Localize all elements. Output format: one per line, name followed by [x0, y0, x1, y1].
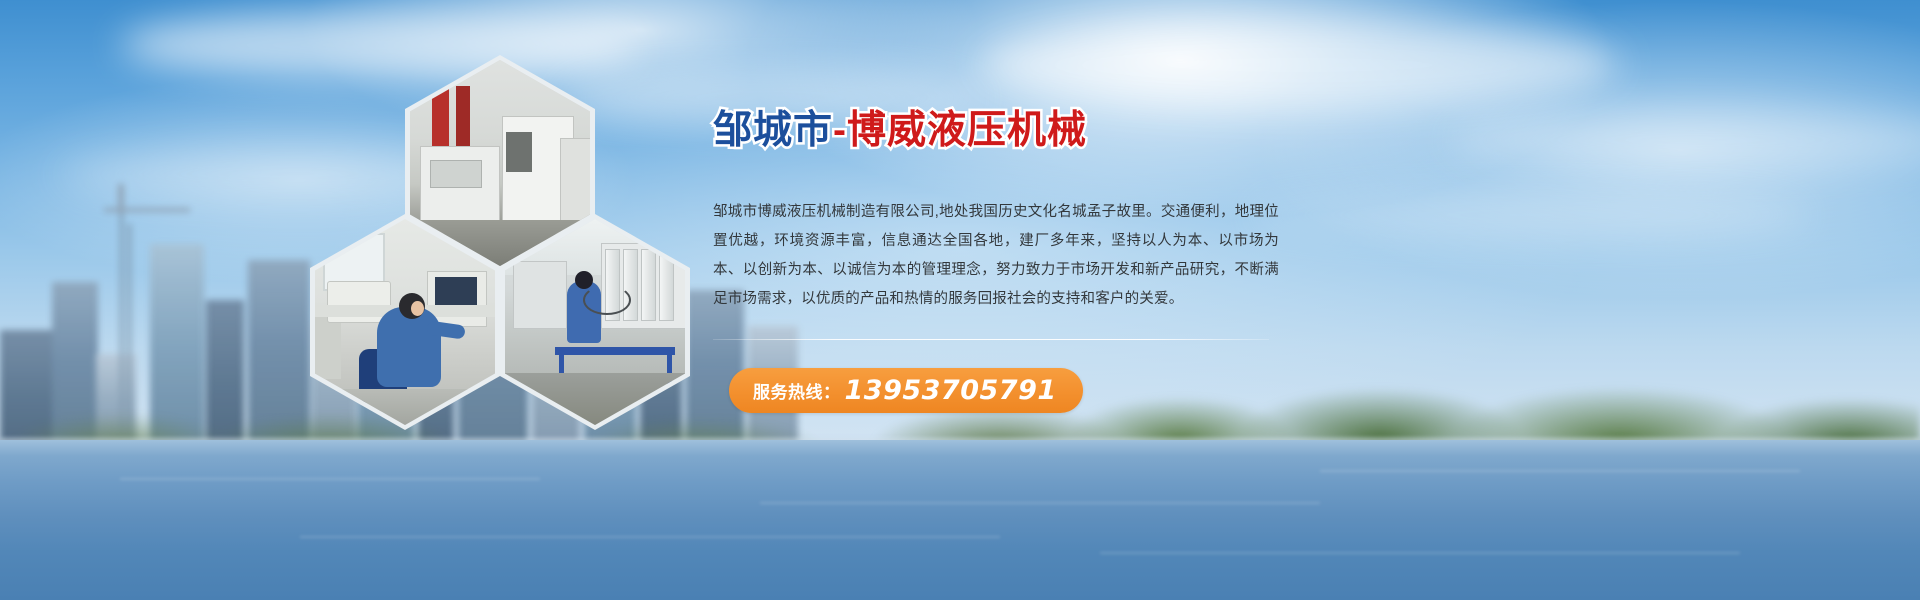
service-hotline-button[interactable]: 服务热线： 13953705791	[729, 368, 1083, 413]
cloud-streak	[1250, 190, 1810, 240]
banner-text-content: 邹城市-博威液压机械 邹城市博威液压机械制造有限公司,地处我国历史文化名城孟子故…	[713, 108, 1293, 413]
company-description-text: 邹城市博威液压机械制造有限公司,地处我国历史文化名城孟子故里。交通便利，地理位置…	[713, 198, 1279, 314]
water-foreground	[0, 440, 1920, 600]
page-title-city: 邹城市	[713, 109, 833, 152]
cloud-streak	[980, 20, 1620, 110]
company-hero-banner: 邹城市-博威液压机械 邹城市博威液压机械制造有限公司,地处我国历史文化名城孟子故…	[0, 0, 1920, 600]
company-description: 邹城市博威液压机械制造有限公司,地处我国历史文化名城孟子故里。交通便利，地理位置…	[713, 198, 1279, 314]
page-title: 邹城市-博威液压机械	[713, 108, 1293, 154]
section-divider	[713, 339, 1269, 340]
page-title-company: -博威液压机械	[833, 109, 1087, 152]
service-hotline-label: 服务热线：	[753, 378, 841, 403]
service-hotline-number: 13953705791	[845, 375, 1057, 406]
hexagon-photo-collage	[305, 55, 695, 445]
